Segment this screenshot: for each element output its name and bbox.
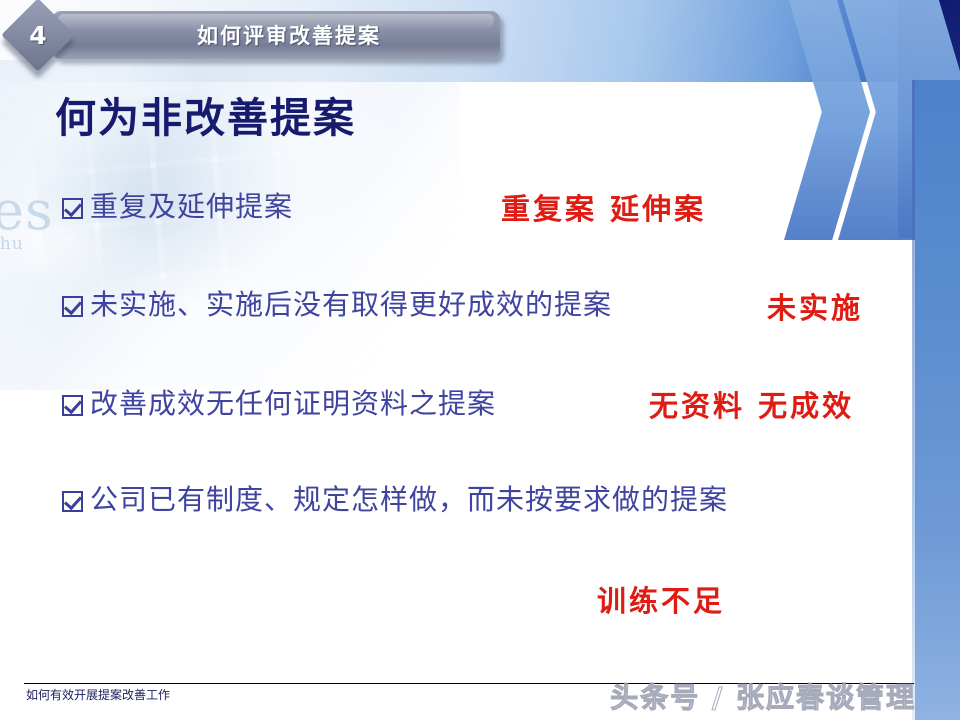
header-title: 如何评审改善提案 [52, 11, 500, 59]
checkbox-checked-icon [62, 491, 83, 512]
right-side-blue-strip [915, 80, 960, 720]
red-annotation: 训练不足 [597, 578, 725, 620]
checkbox-checked-icon [62, 198, 83, 219]
footer-label: 如何有效开展提案改善工作 [26, 686, 170, 703]
channel-watermark: 头条号 / 张应春谈管理 [610, 676, 916, 716]
presentation-slide: es thu 如何评审改善提案 4 何为非改善提案 重复及延伸提案 未实施、实施… [0, 0, 960, 720]
bullet-label: 未实施、实施后没有取得更好成效的提案 [90, 283, 612, 323]
page-title: 何为非改善提案 [55, 84, 356, 144]
right-side-strip-edge [912, 80, 915, 720]
background-photo-letters-main: es [0, 179, 54, 242]
red-annotation: 无资料 无成效 [649, 383, 854, 425]
bullet-item: 改善成效无任何证明资料之提案 [62, 382, 496, 422]
section-number-label: 4 [12, 9, 64, 61]
bullet-item: 未实施、实施后没有取得更好成效的提案 [62, 283, 612, 323]
red-annotation: 重复案 延伸案 [501, 186, 706, 228]
bullet-item: 重复及延伸提案 [62, 185, 293, 225]
checkbox-checked-icon [62, 395, 83, 416]
bullet-item: 公司已有制度、规定怎样做，而未按要求做的提案 [62, 478, 728, 518]
bullet-label: 重复及延伸提案 [90, 185, 293, 225]
background-photo-letters: es thu [0, 185, 54, 252]
red-annotation: 未实施 [767, 285, 863, 327]
bullet-label: 公司已有制度、规定怎样做，而未按要求做的提案 [90, 478, 728, 518]
bullet-label: 改善成效无任何证明资料之提案 [90, 382, 496, 422]
checkbox-checked-icon [62, 296, 83, 317]
